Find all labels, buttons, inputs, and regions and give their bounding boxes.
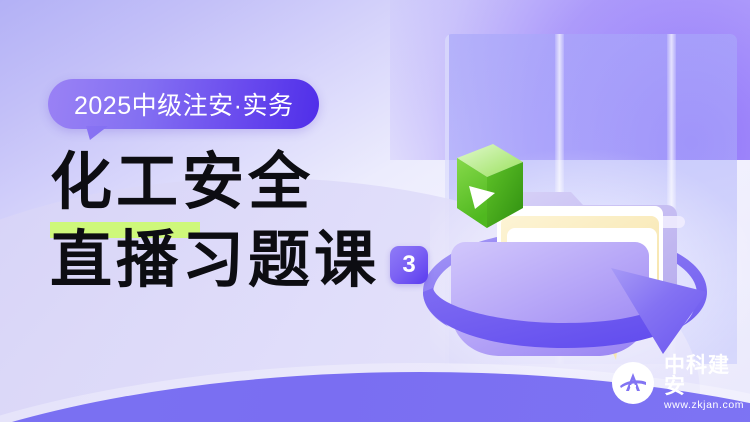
logo-website-url: www.zkjan.com [664, 400, 750, 411]
badge-tail [86, 126, 108, 140]
brand-logo: 中科建安 www.zkjan.com [612, 355, 750, 411]
logo-company-name: 中科建安 [664, 355, 750, 397]
logo-wordmark: 中科建安 www.zkjan.com [664, 355, 750, 411]
headline-block: 化工安全 直播习题课 3 [50, 152, 470, 292]
headline-line-2-wrap: 直播习题课 3 [50, 230, 470, 292]
promo-poster: 2025中级注安·实务 化工安全 直播习题课 3 中科建安 www.zkjan.… [0, 0, 750, 422]
headline-line-1: 化工安全 [50, 149, 314, 217]
zkjan-mountain-logo-icon [612, 362, 654, 404]
headline-line-1-wrap: 化工安全 [50, 152, 470, 214]
course-tag-badge: 2025中级注安·实务 [48, 79, 319, 129]
badge-label: 2025中级注安·实务 [74, 86, 293, 122]
episode-number-badge: 3 [390, 246, 428, 284]
headline-line-2: 直播习题课 [50, 230, 380, 292]
